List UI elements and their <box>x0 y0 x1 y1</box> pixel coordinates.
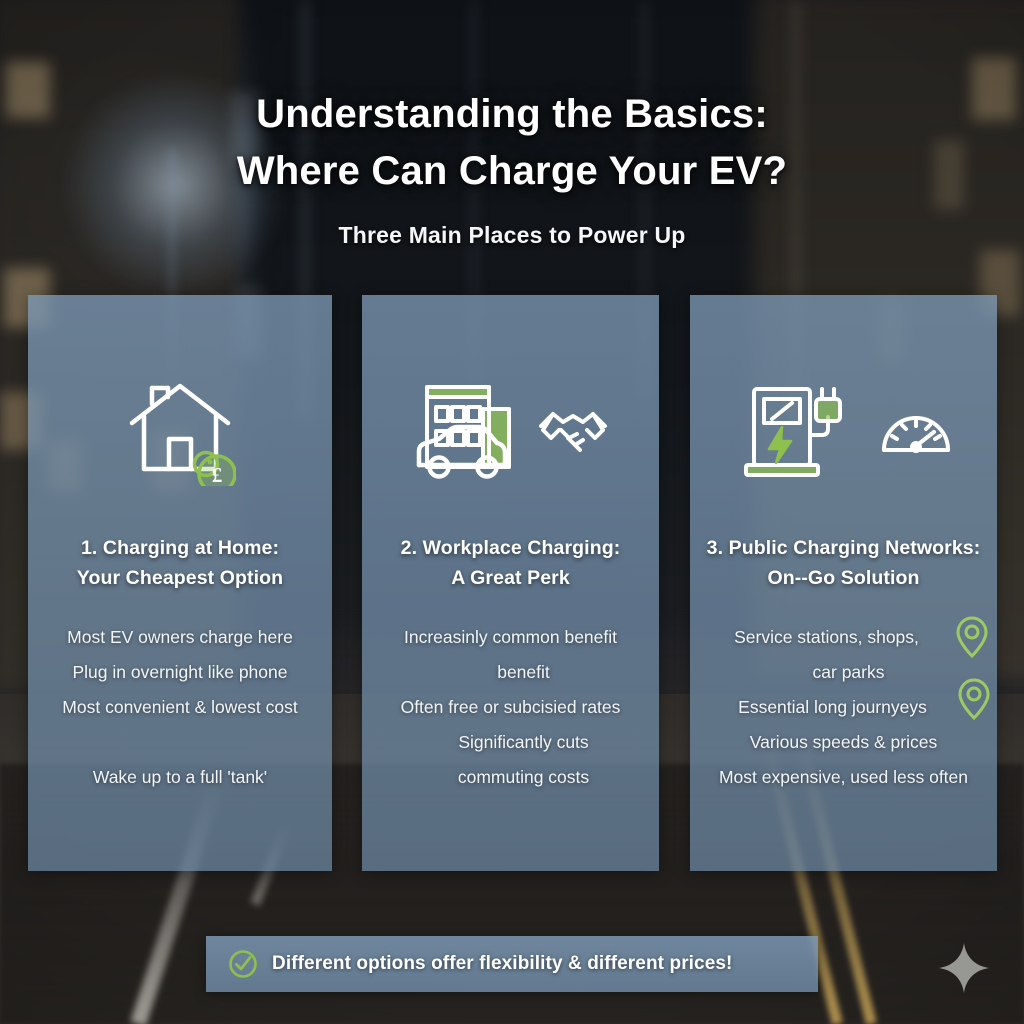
card-public-charging-networks[interactable]: 3. Public Charging Networks: On--Go Solu… <box>690 295 997 871</box>
footer-text: Different options offer flexibility & di… <box>272 953 733 975</box>
card-1-heading-line-1: 1. Charging at Home: <box>6 533 354 563</box>
list-item: Wake up to a full 'tank' <box>20 760 340 795</box>
card-3-heading-line-1: 3. Public Charging Networks: <box>668 533 1019 563</box>
page-title-line-2: Where Can Charge Your EV? <box>0 143 1024 200</box>
list-item-continuation: benefit <box>354 655 667 690</box>
sparkle-icon <box>936 940 992 996</box>
handshake-icon <box>537 400 609 462</box>
card-2-icon-row <box>362 373 659 488</box>
speedometer-icon <box>880 402 952 460</box>
card-2-heading-line-2: A Great Perk <box>340 563 681 593</box>
list-item-continuation: commuting costs <box>354 760 667 795</box>
card-3-heading-line-2: On--Go Solution <box>668 563 1019 593</box>
office-building-icon <box>413 377 523 485</box>
ev-charging-station-icon <box>736 379 866 483</box>
infographic-canvas: Understanding the Basics: Where Can Char… <box>0 0 1024 1024</box>
price-tag-pound-icon: £ <box>195 452 236 486</box>
card-charging-at-home[interactable]: £ 1. Charging at Home: Your Cheapest Opt… <box>28 295 332 871</box>
page-title-line-1: Understanding the Basics: <box>0 86 1024 143</box>
house-icon: £ <box>124 376 236 486</box>
card-1-bullets: Most EV owners charge here Plug in overn… <box>20 620 340 795</box>
card-3-map-pins <box>955 615 991 721</box>
page-subtitle: Three Main Places to Power Up <box>0 222 1024 249</box>
check-circle-icon <box>228 949 258 979</box>
footer-banner[interactable]: Different options offer flexibility & di… <box>206 936 818 992</box>
list-item: Most convenient & lowest cost <box>20 690 340 725</box>
list-item: Plug in overnight like phone <box>20 655 340 690</box>
list-item: Various speeds & prices <box>682 725 1005 760</box>
card-list: £ 1. Charging at Home: Your Cheapest Opt… <box>0 295 1024 871</box>
lightning-bolt-icon <box>769 427 791 463</box>
list-item: Increasinly common benefit <box>354 620 667 655</box>
card-2-heading: 2. Workplace Charging: A Great Perk <box>340 533 681 593</box>
card-1-heading: 1. Charging at Home: Your Cheapest Optio… <box>6 533 354 593</box>
list-item: Often free or subcisied rates <box>354 690 667 725</box>
card-2-heading-line-1: 2. Workplace Charging: <box>340 533 681 563</box>
svg-text:£: £ <box>212 463 223 486</box>
list-item-continuation: Significantly cuts <box>354 725 667 760</box>
card-workplace-charging[interactable]: 2. Workplace Charging: A Great Perk Incr… <box>362 295 659 871</box>
map-pin-icon <box>955 615 989 659</box>
list-item: Most expensive, used less often <box>682 760 1005 795</box>
bullet-spacer <box>20 725 340 760</box>
list-item: Most EV owners charge here <box>20 620 340 655</box>
card-1-icon-row: £ <box>28 373 332 488</box>
page-header: Understanding the Basics: Where Can Char… <box>0 86 1024 249</box>
card-3-icon-row <box>690 373 997 488</box>
map-pin-icon <box>957 677 991 721</box>
plug-icon <box>816 389 840 427</box>
card-2-bullets: Increasinly common benefit benefit Often… <box>354 620 667 795</box>
card-1-heading-line-2: Your Cheapest Option <box>6 563 354 593</box>
card-3-heading: 3. Public Charging Networks: On--Go Solu… <box>668 533 1019 593</box>
